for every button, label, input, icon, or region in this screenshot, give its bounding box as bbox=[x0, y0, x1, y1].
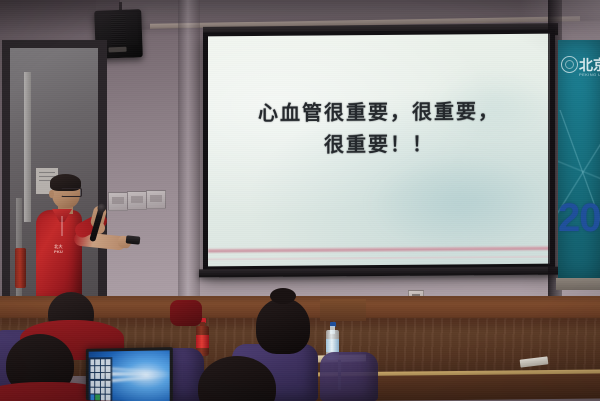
audience-head bbox=[256, 298, 310, 354]
tile[interactable] bbox=[101, 373, 105, 379]
tile[interactable] bbox=[101, 380, 105, 386]
slide-text-line-1: 心血管很重要，很重要， bbox=[230, 96, 528, 131]
tile[interactable] bbox=[101, 366, 105, 372]
tile[interactable] bbox=[106, 388, 110, 394]
slide-text: 心血管很重要，很重要， 很重要！！ bbox=[208, 96, 550, 163]
tile[interactable] bbox=[96, 380, 100, 386]
lecture-hall-photo: 心血管很重要，很重要， 很重要！！ 北京 PEKING UN 20 北大PKU bbox=[0, 0, 600, 401]
presentation-clicker-icon bbox=[126, 235, 141, 244]
tile[interactable] bbox=[106, 373, 110, 379]
tile[interactable] bbox=[96, 387, 100, 393]
slide-text-line-2: 很重要！！ bbox=[230, 128, 528, 163]
tile[interactable] bbox=[91, 359, 95, 365]
tile[interactable] bbox=[106, 366, 110, 372]
slide-surface: 心血管很重要，很重要， 很重要！！ bbox=[208, 34, 550, 267]
tile[interactable] bbox=[96, 394, 100, 400]
presenter-shirt-logo: 北大PKU bbox=[50, 244, 67, 260]
presenter-ear bbox=[49, 190, 54, 198]
tile[interactable] bbox=[91, 366, 95, 372]
tile[interactable] bbox=[106, 395, 110, 401]
banner-organization-en: PEKING UN bbox=[579, 72, 600, 77]
presenter-placket bbox=[61, 216, 63, 236]
tile[interactable] bbox=[91, 380, 95, 386]
glasses-icon bbox=[61, 188, 82, 197]
tile[interactable] bbox=[96, 359, 100, 365]
wall-pillar bbox=[178, 0, 200, 300]
audience-shoulder-red bbox=[170, 300, 202, 326]
presenter: 北大PKU bbox=[30, 176, 150, 300]
windows-start-menu[interactable] bbox=[89, 357, 112, 400]
tile[interactable] bbox=[91, 394, 95, 400]
tile[interactable] bbox=[91, 387, 95, 393]
tile[interactable] bbox=[101, 395, 105, 401]
tile[interactable] bbox=[101, 387, 105, 393]
university-seal-icon bbox=[561, 56, 578, 73]
laptop-screen[interactable] bbox=[89, 350, 170, 401]
start-menu-tiles bbox=[91, 359, 111, 398]
tile[interactable] bbox=[96, 366, 100, 372]
banner-year: 20 bbox=[558, 198, 600, 238]
audience-laptop[interactable] bbox=[84, 348, 172, 401]
fire-extinguisher-icon bbox=[15, 248, 26, 288]
tile[interactable] bbox=[106, 380, 110, 386]
projection-screen: 心血管很重要，很重要， 很重要！！ bbox=[203, 30, 555, 276]
wooden-bench bbox=[320, 299, 366, 321]
auditorium-chair bbox=[320, 352, 378, 401]
audience-hair-bun bbox=[270, 288, 296, 304]
tile[interactable] bbox=[91, 373, 95, 379]
tile[interactable] bbox=[106, 359, 110, 365]
tile[interactable] bbox=[101, 359, 105, 365]
speaker-badge bbox=[108, 47, 126, 53]
bottle-label bbox=[326, 339, 339, 352]
laptop-lid bbox=[86, 347, 173, 401]
tile[interactable] bbox=[96, 373, 100, 379]
peking-university-banner: 北京 PEKING UN 20 bbox=[558, 40, 600, 280]
banner-ledge bbox=[556, 278, 600, 290]
bottle-label bbox=[196, 335, 209, 348]
